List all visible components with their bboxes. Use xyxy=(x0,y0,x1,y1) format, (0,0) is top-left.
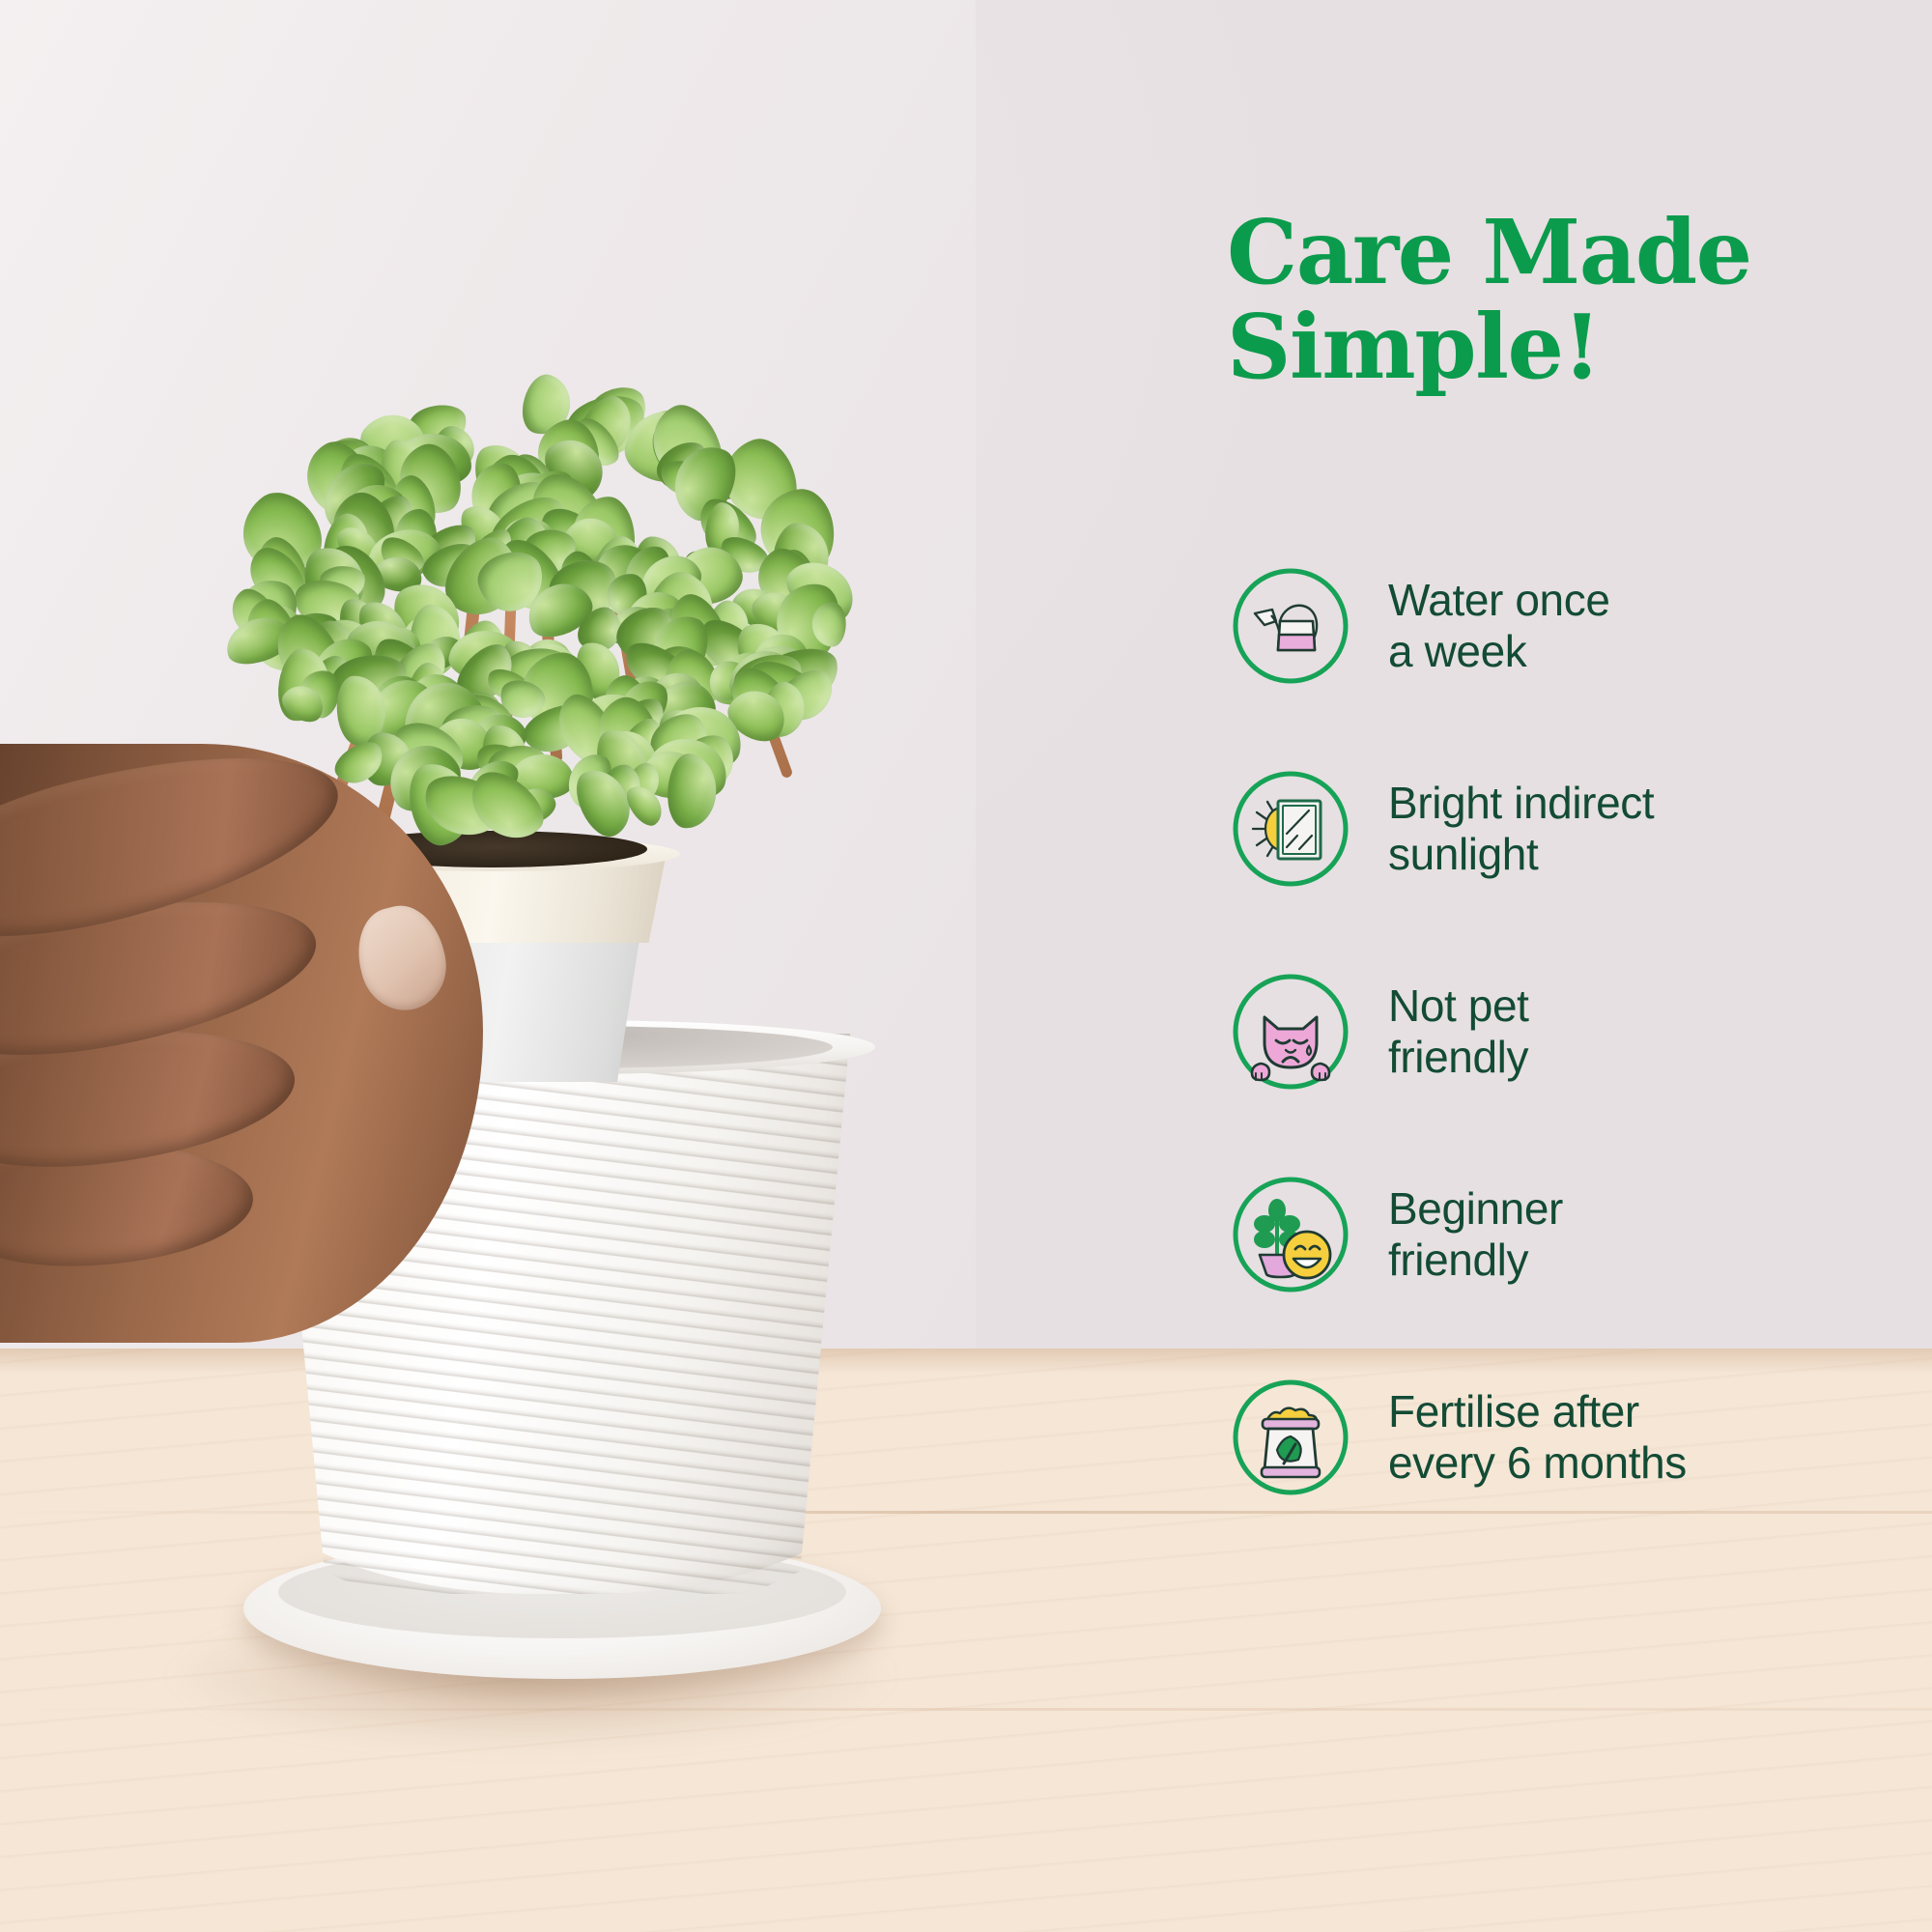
fertiliser-bag-icon xyxy=(1226,1373,1355,1502)
care-item-difficulty: Beginnerfriendly xyxy=(1226,1164,1931,1305)
care-instructions-list: Water oncea week xyxy=(1226,555,1931,1570)
care-item-water: Water oncea week xyxy=(1226,555,1931,696)
care-item-label: Bright indirectsunlight xyxy=(1388,778,1654,881)
care-item-label: Beginnerfriendly xyxy=(1388,1183,1563,1287)
watering-can-icon xyxy=(1226,561,1355,691)
sun-window-icon xyxy=(1226,764,1355,894)
care-item-fertilise: Fertilise afterevery 6 months xyxy=(1226,1367,1931,1508)
care-item-label: Fertilise afterevery 6 months xyxy=(1388,1386,1687,1490)
plant-smiley-icon xyxy=(1226,1170,1355,1299)
care-item-pet-safety: Not petfriendly xyxy=(1226,961,1931,1102)
sad-cat-icon xyxy=(1226,967,1355,1096)
care-item-light: Bright indirectsunlight xyxy=(1226,758,1931,899)
care-item-label: Not petfriendly xyxy=(1388,980,1529,1084)
care-item-label: Water oncea week xyxy=(1388,575,1610,678)
care-panel: Care MadeSimple! Water oncea week xyxy=(1203,0,1932,1932)
page-title: Care MadeSimple! xyxy=(1227,206,1903,394)
